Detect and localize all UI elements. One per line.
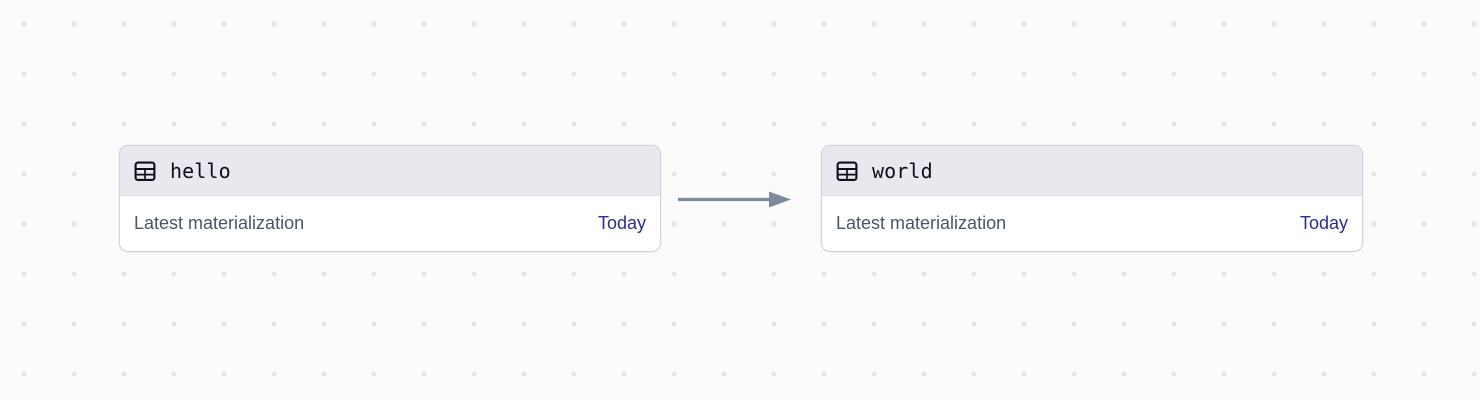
asset-node-header[interactable]: world [822, 146, 1362, 196]
table-icon [134, 160, 156, 182]
latest-materialization-label: Latest materialization [134, 212, 304, 234]
asset-node-hello[interactable]: hello Latest materialization Today [119, 145, 661, 252]
asset-node-body: Latest materialization Today [120, 196, 660, 250]
table-icon [836, 160, 858, 182]
latest-materialization-label: Latest materialization [836, 212, 1006, 234]
latest-materialization-value[interactable]: Today [598, 212, 646, 234]
edge-hello-to-world [676, 186, 796, 214]
asset-node-title: hello [170, 160, 231, 182]
asset-node-header[interactable]: hello [120, 146, 660, 196]
asset-graph-canvas[interactable]: hello Latest materialization Today world… [0, 0, 1480, 400]
asset-node-body: Latest materialization Today [822, 196, 1362, 250]
asset-node-world[interactable]: world Latest materialization Today [821, 145, 1363, 252]
latest-materialization-value[interactable]: Today [1300, 212, 1348, 234]
asset-node-title: world [872, 160, 933, 182]
